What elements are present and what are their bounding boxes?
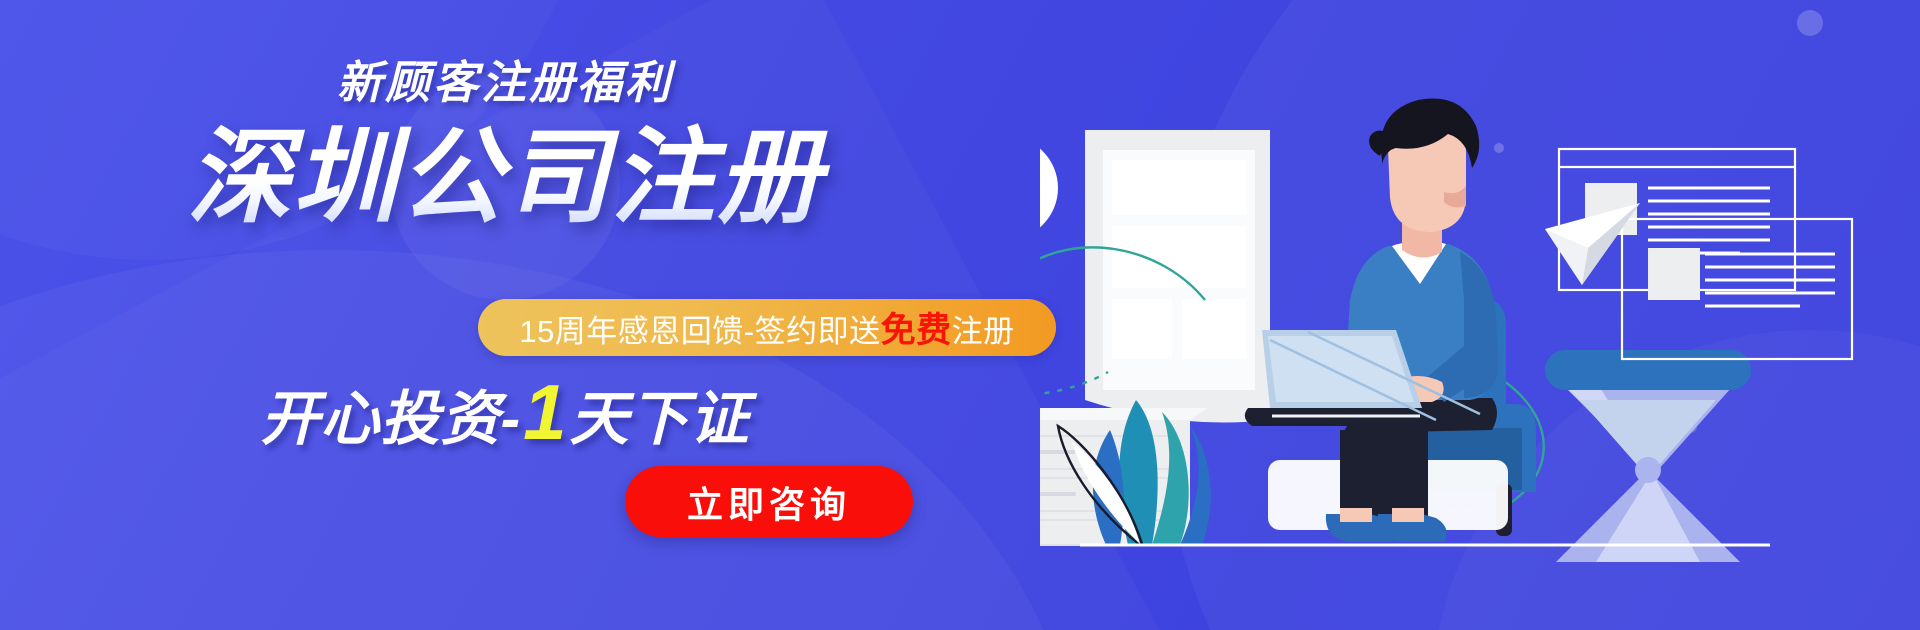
illustration-scene <box>1040 0 1920 630</box>
promo-pill-highlight: 免费 <box>881 311 952 350</box>
copy-block: 新顾客注册福利 深圳公司注册 15周年感恩回馈-签约即送免费注册 开心投资-1天… <box>0 0 1010 630</box>
promo-banner: 新顾客注册福利 深圳公司注册 15周年感恩回馈-签约即送免费注册 开心投资-1天… <box>0 0 1920 630</box>
hourglass-icon <box>1545 350 1751 562</box>
wall-clock-icon <box>1040 136 1058 240</box>
window-icon <box>1085 130 1270 423</box>
promo-pill-prefix: 15周年感恩回馈-签约即送 <box>519 314 880 349</box>
promo-pill-text: 15周年感恩回馈-签约即送免费注册 <box>519 302 1014 353</box>
promo-pill: 15周年感恩回馈-签约即送免费注册 <box>478 299 1056 356</box>
consult-now-button-label: 立即咨询 <box>687 476 851 528</box>
document-card-2-thumb <box>1648 248 1700 300</box>
page-title: 深圳公司注册 <box>0 120 1010 236</box>
kicker-text: 新顾客注册福利 <box>0 58 1010 108</box>
tagline: 开心投资-1天下证 <box>0 370 1010 456</box>
tagline-suffix: 天下证 <box>570 386 750 452</box>
tagline-prefix: 开心投资- <box>260 386 521 452</box>
promo-pill-suffix: 注册 <box>952 314 1015 349</box>
tagline-number: 1 <box>521 368 569 456</box>
consult-now-button[interactable]: 立即咨询 <box>625 466 913 537</box>
